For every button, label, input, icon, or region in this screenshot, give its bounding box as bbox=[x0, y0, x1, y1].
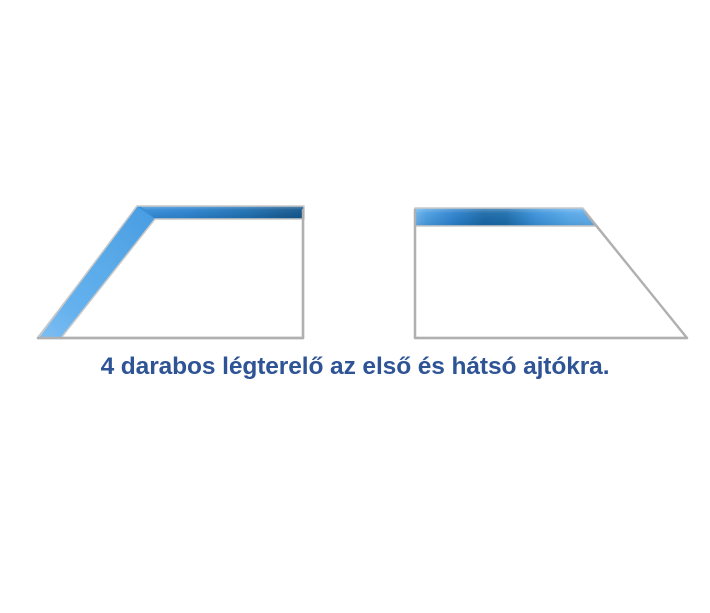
front-deflector-gloss bbox=[140, 206, 304, 219]
product-caption: 4 darabos légterelő az első és hátsó ajt… bbox=[0, 352, 710, 382]
illustration-canvas: 4 darabos légterelő az első és hátsó ajt… bbox=[0, 0, 710, 613]
rear-window-outline bbox=[415, 209, 687, 338]
front-window-outline bbox=[38, 207, 303, 338]
window-deflector-diagram bbox=[0, 0, 710, 613]
rear-deflector-gloss bbox=[415, 208, 597, 226]
rear-door-window-shape bbox=[415, 208, 687, 338]
front-door-window-shape bbox=[38, 206, 304, 338]
